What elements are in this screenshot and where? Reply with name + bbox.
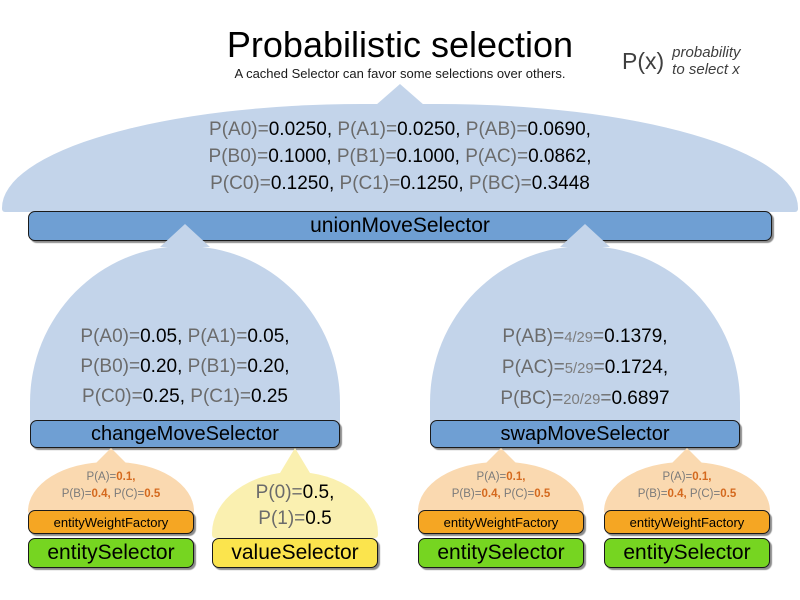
swap-move-selector-label: swapMoveSelector (501, 423, 670, 446)
probability-line: P(C0)=0.25, P(C1)=0.25 (30, 382, 340, 412)
probability-label: P(A0)= (80, 326, 140, 347)
probability-label: P(AB)= (466, 119, 528, 140)
probability-label: P(A1)= (337, 119, 397, 140)
probability-value: 0.1379 (604, 326, 662, 347)
probability-label: P(B0)= (209, 146, 269, 167)
probability-label: P(BC)= (500, 388, 563, 409)
union-probability-bubble: P(A0)=0.0250, P(A1)=0.0250, P(AB)=0.0690… (2, 104, 798, 212)
probability-separator: , (455, 146, 466, 167)
probability-separator: , (586, 119, 591, 140)
probability-label: P(B0)= (80, 356, 140, 377)
probability-separator: , (708, 471, 711, 483)
entity-weight-probability-text: P(A)=0.1,P(B)=0.4, P(C)=0.5 (604, 469, 770, 503)
probability-label: P(B)= (638, 488, 668, 500)
entity-weight-probability-bubble: P(A)=0.1,P(B)=0.4, P(C)=0.5 (418, 462, 584, 514)
change-probability-bubble: P(A0)=0.05, P(A1)=0.05,P(B0)=0.20, P(B1)… (30, 246, 340, 432)
probability-label: P(AB)= (502, 326, 564, 347)
probability-label: P(1)= (258, 508, 305, 529)
entity-weight-probability-text: P(A)=0.1,P(B)=0.4, P(C)=0.5 (418, 469, 584, 503)
probability-label: P(AC)= (502, 357, 565, 378)
probability-value: 0.0250 (269, 119, 327, 140)
entity-weight-factory-bar[interactable]: entityWeightFactory (28, 510, 194, 534)
probability-label: P(C)= (504, 488, 534, 500)
probability-equals: = (600, 388, 611, 409)
probability-line: P(A)=0.1, (418, 469, 584, 486)
probability-fraction: 20/29 (563, 392, 600, 408)
probability-label: P(C)= (690, 488, 720, 500)
legend-line-2: to select x (672, 61, 740, 78)
value-selector-label: valueSelector (231, 541, 358, 565)
legend-symbol: P(x) (622, 50, 664, 73)
bubble-arrow-up-icon (672, 448, 702, 463)
probability-value: 0.20 (247, 356, 284, 377)
probability-value: 0.1250 (400, 173, 458, 194)
probability-fraction: 4/29 (564, 330, 593, 346)
probability-value: 0.1 (692, 471, 708, 483)
entity-weight-factory-label: entityWeightFactory (444, 515, 559, 530)
swap-probability-text: P(AB)=4/29=0.1379,P(AC)=5/29=0.1724,P(BC… (430, 322, 740, 415)
probability-separator: , (522, 471, 525, 483)
probability-value: 0.1000 (268, 146, 326, 167)
probability-value: 0.5 (720, 488, 736, 500)
probability-value: 0.1 (116, 471, 132, 483)
probability-line: P(1)=0.5 (212, 506, 378, 532)
probability-separator: , (329, 482, 334, 503)
probability-value: 0.05 (247, 326, 284, 347)
probability-label: P(BC)= (469, 173, 532, 194)
probability-separator: , (284, 356, 289, 377)
probability-label: P(B)= (62, 488, 92, 500)
probability-value: 0.20 (140, 356, 177, 377)
probability-line: P(A)=0.1, (28, 469, 194, 486)
probability-value: 0.1 (506, 471, 522, 483)
probability-separator: , (329, 173, 340, 194)
probability-label: P(AC)= (465, 146, 528, 167)
probability-line: P(A0)=0.0250, P(A1)=0.0250, P(AB)=0.0690… (2, 116, 798, 143)
bubble-arrow-up-icon (280, 448, 310, 473)
value-probability-bubble: P(0)=0.5,P(1)=0.5 (212, 472, 378, 538)
probability-value: 0.25 (251, 386, 288, 407)
probability-line: P(B)=0.4, P(C)=0.5 (604, 486, 770, 503)
probability-value: 0.1724 (605, 357, 663, 378)
probability-line: P(B)=0.4, P(C)=0.5 (418, 486, 584, 503)
probability-label: P(A0)= (209, 119, 269, 140)
value-selector-bar[interactable]: valueSelector (212, 538, 378, 568)
probability-line: P(A)=0.1, (604, 469, 770, 486)
union-move-selector-label: unionMoveSelector (310, 214, 490, 238)
change-move-selector-bar[interactable]: changeMoveSelector (30, 420, 340, 448)
probability-value: 0.25 (143, 386, 180, 407)
legend-line-1: probability (672, 44, 740, 61)
bubble-arrow-up-icon (486, 448, 516, 463)
probability-separator: , (326, 146, 337, 167)
probability-line: P(AB)=4/29=0.1379, (430, 322, 740, 353)
probability-value: 0.4 (91, 488, 107, 500)
probability-line: P(B0)=0.1000, P(B1)=0.1000, P(AC)=0.0862… (2, 143, 798, 170)
change-probability-text: P(A0)=0.05, P(A1)=0.05,P(B0)=0.20, P(B1)… (30, 322, 340, 412)
probability-line: P(C0)=0.1250, P(C1)=0.1250, P(BC)=0.3448 (2, 170, 798, 197)
probability-line: P(0)=0.5, (212, 480, 378, 506)
probability-value: 0.0690 (528, 119, 586, 140)
union-move-selector-bar[interactable]: unionMoveSelector (28, 211, 772, 241)
entity-weight-factory-label: entityWeightFactory (630, 515, 745, 530)
bubble-arrow-up-icon (96, 448, 126, 463)
probability-label: P(A1)= (188, 326, 248, 347)
probability-value: 0.4 (667, 488, 683, 500)
probability-value: 0.0250 (397, 119, 455, 140)
change-move-selector-label: changeMoveSelector (91, 423, 279, 446)
probability-value: 0.0862 (528, 146, 586, 167)
entity-selector-label: entitySelector (437, 541, 564, 565)
probability-value: 0.05 (140, 326, 177, 347)
probability-label: P(B)= (452, 488, 482, 500)
legend-description: probability to select x (672, 44, 740, 79)
probability-value: 0.6897 (611, 388, 669, 409)
bubble-arrow-up-icon (560, 224, 610, 247)
probability-label: P(0)= (256, 482, 303, 503)
probability-fraction: 5/29 (565, 361, 594, 377)
entity-selector-label: entitySelector (47, 541, 174, 565)
probability-label: P(C0)= (210, 173, 271, 194)
probability-value: 0.5 (305, 508, 331, 529)
probability-value: 0.5 (303, 482, 329, 503)
probability-separator: , (132, 471, 135, 483)
swap-move-selector-bar[interactable]: swapMoveSelector (430, 420, 740, 448)
probability-separator: , (327, 119, 338, 140)
probability-value: 0.3448 (532, 173, 590, 194)
probability-separator: , (284, 326, 289, 347)
probability-line: P(B)=0.4, P(C)=0.5 (28, 486, 194, 503)
probability-value: 0.1250 (271, 173, 329, 194)
union-probability-text: P(A0)=0.0250, P(A1)=0.0250, P(AB)=0.0690… (2, 116, 798, 197)
entity-weight-factory-bar[interactable]: entityWeightFactory (418, 510, 584, 534)
probability-label: P(C0)= (82, 386, 143, 407)
entity-weight-probability-bubble: P(A)=0.1,P(B)=0.4, P(C)=0.5 (28, 462, 194, 514)
entity-selector-bar[interactable]: entitySelector (28, 538, 194, 568)
probability-line: P(A0)=0.05, P(A1)=0.05, (30, 322, 340, 352)
bubble-arrow-up-icon (160, 224, 210, 247)
probability-label: P(A)= (477, 471, 507, 483)
probability-label: P(B1)= (188, 356, 248, 377)
value-probability-text: P(0)=0.5,P(1)=0.5 (212, 480, 378, 532)
entity-weight-probability-bubble: P(A)=0.1,P(B)=0.4, P(C)=0.5 (604, 462, 770, 514)
probability-value: 0.5 (534, 488, 550, 500)
swap-probability-bubble: P(AB)=4/29=0.1379,P(AC)=5/29=0.1724,P(BC… (430, 246, 740, 432)
probability-separator: , (177, 356, 188, 377)
legend: P(x) probability to select x (622, 44, 741, 79)
probability-line: P(BC)=20/29=0.6897 (430, 384, 740, 415)
probability-line: P(B0)=0.20, P(B1)=0.20, (30, 352, 340, 382)
entity-weight-probability-text: P(A)=0.1,P(B)=0.4, P(C)=0.5 (28, 469, 194, 503)
probability-separator: , (586, 146, 591, 167)
probability-separator: , (663, 357, 668, 378)
entity-weight-factory-label: entityWeightFactory (54, 515, 169, 530)
entity-selector-bar[interactable]: entitySelector (418, 538, 584, 568)
probability-label: P(C1)= (190, 386, 251, 407)
probability-value: 0.5 (144, 488, 160, 500)
probability-separator: , (180, 386, 191, 407)
probability-label: P(C1)= (340, 173, 401, 194)
probability-label: P(B1)= (337, 146, 397, 167)
probability-line: P(AC)=5/29=0.1724, (430, 353, 740, 384)
bubble-arrow-up-icon (376, 84, 424, 105)
probability-separator: , (662, 326, 667, 347)
probability-label: P(A)= (87, 471, 117, 483)
probability-equals: = (594, 357, 605, 378)
probability-equals: = (593, 326, 604, 347)
probability-label: P(C)= (114, 488, 144, 500)
probability-value: 0.1000 (397, 146, 455, 167)
entity-weight-factory-bar[interactable]: entityWeightFactory (604, 510, 770, 534)
probability-separator: , (458, 173, 469, 194)
probability-label: P(A)= (663, 471, 693, 483)
probability-separator: , (455, 119, 466, 140)
probability-value: 0.4 (481, 488, 497, 500)
entity-selector-bar[interactable]: entitySelector (604, 538, 770, 568)
probability-separator: , (177, 326, 188, 347)
entity-selector-label: entitySelector (623, 541, 750, 565)
